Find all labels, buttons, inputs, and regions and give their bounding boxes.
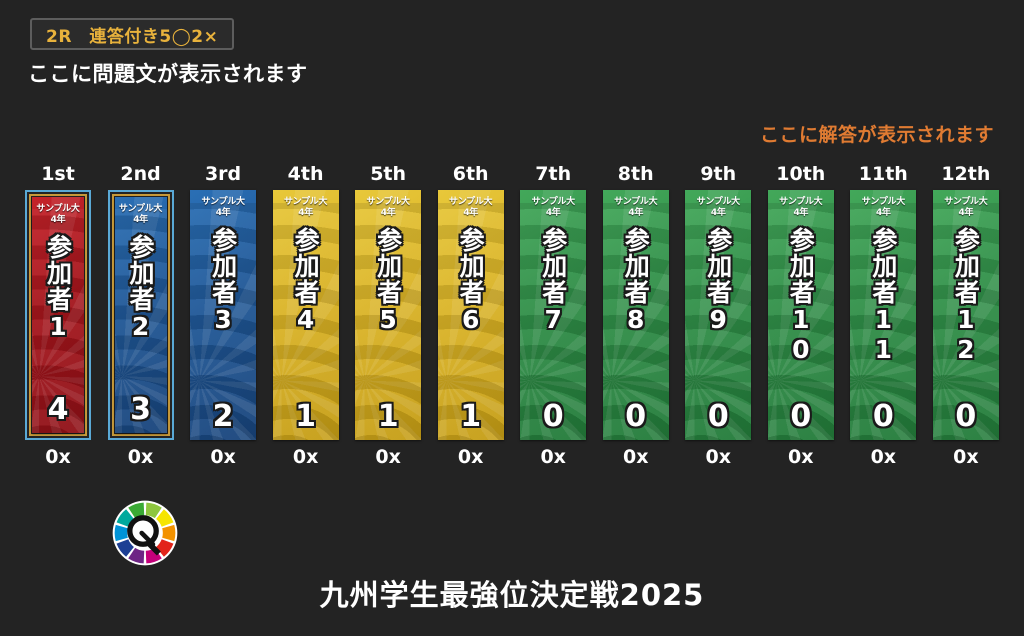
player-card[interactable]: 9thサンプル大 4年参加者900x: [685, 163, 751, 473]
player-miss-count: 0x: [128, 447, 153, 468]
player-rank-label: 3rd: [205, 163, 241, 187]
player-card-holder: サンプル大 4年参加者80: [603, 190, 669, 440]
player-card-highlight-frame: サンプル大 4年参加者14: [25, 190, 91, 440]
player-card-frame: サンプル大 4年参加者70: [520, 190, 586, 440]
player-name: 参加者1: [45, 234, 72, 342]
player-affiliation: サンプル大 4年: [862, 197, 905, 219]
player-card-body[interactable]: サンプル大 4年参加者100: [768, 190, 834, 440]
round-badge: 2R 連答付き5◯2×: [30, 18, 234, 50]
player-card[interactable]: 7thサンプル大 4年参加者700x: [520, 163, 586, 473]
player-card-holder: サンプル大 4年参加者41: [273, 190, 339, 440]
player-score: 1: [295, 401, 316, 433]
player-rank-label: 8th: [618, 163, 654, 187]
player-card-body[interactable]: サンプル大 4年参加者61: [438, 190, 504, 440]
player-card-body[interactable]: サンプル大 4年参加者23: [115, 197, 167, 433]
player-card-body[interactable]: サンプル大 4年参加者32: [190, 190, 256, 440]
player-card-holder: サンプル大 4年参加者110: [850, 190, 916, 440]
player-rank-label: 10th: [776, 163, 825, 187]
player-name: 参加者8: [622, 227, 649, 335]
player-card-frame: サンプル大 4年参加者120: [933, 190, 999, 440]
player-affiliation: サンプル大 4年: [367, 197, 410, 219]
player-name: 参加者2: [127, 234, 154, 342]
player-name: 参加者12: [952, 227, 979, 365]
question-text: ここに問題文が表示されます: [28, 58, 308, 88]
player-rank-label: 12th: [941, 163, 990, 187]
player-affiliation: サンプル大 4年: [614, 197, 657, 219]
player-card[interactable]: 12thサンプル大 4年参加者1200x: [933, 163, 999, 473]
player-card-holder: サンプル大 4年参加者51: [355, 190, 421, 440]
player-card-body[interactable]: サンプル大 4年参加者14: [32, 197, 84, 433]
player-card-holder: サンプル大 4年参加者61: [438, 190, 504, 440]
answer-text: ここに解答が表示されます: [760, 120, 994, 147]
player-miss-count: 0x: [540, 447, 565, 468]
player-card-body[interactable]: サンプル大 4年参加者80: [603, 190, 669, 440]
player-card[interactable]: 4thサンプル大 4年参加者410x: [273, 163, 339, 473]
player-card-gold-border: サンプル大 4年参加者23: [112, 194, 170, 436]
player-rank-label: 5th: [370, 163, 406, 187]
player-miss-count: 0x: [45, 447, 70, 468]
player-card-holder: サンプル大 4年参加者120: [933, 190, 999, 440]
player-miss-count: 0x: [623, 447, 648, 468]
player-card[interactable]: 3rdサンプル大 4年参加者320x: [190, 163, 256, 473]
player-miss-count: 0x: [871, 447, 896, 468]
player-miss-count: 0x: [458, 447, 483, 468]
player-card-body[interactable]: サンプル大 4年参加者70: [520, 190, 586, 440]
player-rank-label: 2nd: [120, 163, 160, 187]
player-card[interactable]: 10thサンプル大 4年参加者1000x: [768, 163, 834, 473]
player-affiliation: サンプル大 4年: [119, 204, 162, 226]
player-card-body[interactable]: サンプル大 4年参加者110: [850, 190, 916, 440]
player-rank-label: 1st: [41, 163, 75, 187]
player-score: 2: [213, 401, 234, 433]
player-rank-label: 6th: [453, 163, 489, 187]
player-score: 0: [708, 401, 729, 433]
player-name: 参加者10: [787, 227, 814, 365]
player-card-frame: サンプル大 4年参加者61: [438, 190, 504, 440]
player-card-holder: サンプル大 4年参加者100: [768, 190, 834, 440]
player-rank-label: 7th: [535, 163, 571, 187]
player-list: 1stサンプル大 4年参加者140x2ndサンプル大 4年参加者230x3rdサ…: [25, 163, 999, 473]
player-rank-label: 9th: [700, 163, 736, 187]
player-card[interactable]: 1stサンプル大 4年参加者140x: [25, 163, 91, 473]
player-miss-count: 0x: [375, 447, 400, 468]
player-card-frame: サンプル大 4年参加者32: [190, 190, 256, 440]
player-name: 参加者5: [375, 227, 402, 335]
player-affiliation: サンプル大 4年: [532, 197, 575, 219]
player-card-body[interactable]: サンプル大 4年参加者90: [685, 190, 751, 440]
player-card-body[interactable]: サンプル大 4年参加者120: [933, 190, 999, 440]
player-score: 0: [625, 401, 646, 433]
player-card-holder: サンプル大 4年参加者32: [190, 190, 256, 440]
player-miss-count: 0x: [293, 447, 318, 468]
player-card-frame: サンプル大 4年参加者41: [273, 190, 339, 440]
player-card-body[interactable]: サンプル大 4年参加者51: [355, 190, 421, 440]
player-affiliation: サンプル大 4年: [284, 197, 327, 219]
player-card-gold-border: サンプル大 4年参加者14: [29, 194, 87, 436]
event-title: 九州学生最強位決定戦2025: [0, 572, 1024, 614]
player-affiliation: サンプル大 4年: [36, 204, 79, 226]
player-name: 参加者4: [292, 227, 319, 335]
player-rank-label: 11th: [859, 163, 908, 187]
player-card-frame: サンプル大 4年参加者80: [603, 190, 669, 440]
player-miss-count: 0x: [953, 447, 978, 468]
player-miss-count: 0x: [788, 447, 813, 468]
player-miss-count: 0x: [210, 447, 235, 468]
quiz-magnifier-logo-icon: [112, 500, 178, 566]
player-card-frame: サンプル大 4年参加者100: [768, 190, 834, 440]
player-card-holder: サンプル大 4年参加者70: [520, 190, 586, 440]
player-score: 0: [543, 401, 564, 433]
player-miss-count: 0x: [706, 447, 731, 468]
player-card-frame: サンプル大 4年参加者110: [850, 190, 916, 440]
player-score: 1: [378, 401, 399, 433]
player-affiliation: サンプル大 4年: [449, 197, 492, 219]
player-card[interactable]: 5thサンプル大 4年参加者510x: [355, 163, 421, 473]
player-score: 0: [955, 401, 976, 433]
player-affiliation: サンプル大 4年: [697, 197, 740, 219]
player-card-frame: サンプル大 4年参加者90: [685, 190, 751, 440]
player-score: 0: [790, 401, 811, 433]
player-card[interactable]: 6thサンプル大 4年参加者610x: [438, 163, 504, 473]
player-affiliation: サンプル大 4年: [779, 197, 822, 219]
player-name: 参加者6: [457, 227, 484, 335]
player-affiliation: サンプル大 4年: [201, 197, 244, 219]
player-card-body[interactable]: サンプル大 4年参加者41: [273, 190, 339, 440]
player-score: 4: [48, 394, 69, 426]
player-name: 参加者3: [210, 227, 237, 335]
player-card-frame: サンプル大 4年参加者51: [355, 190, 421, 440]
player-name: 参加者7: [540, 227, 567, 335]
player-card-holder: サンプル大 4年参加者90: [685, 190, 751, 440]
player-name: 参加者11: [870, 227, 897, 365]
player-name: 参加者9: [705, 227, 732, 335]
player-card-highlight-frame: サンプル大 4年参加者23: [108, 190, 174, 440]
player-score: 0: [873, 401, 894, 433]
player-rank-label: 4th: [288, 163, 324, 187]
player-card[interactable]: 8thサンプル大 4年参加者800x: [603, 163, 669, 473]
player-card[interactable]: 2ndサンプル大 4年参加者230x: [108, 163, 174, 473]
player-score: 1: [460, 401, 481, 433]
player-card[interactable]: 11thサンプル大 4年参加者1100x: [850, 163, 916, 473]
player-affiliation: サンプル大 4年: [944, 197, 987, 219]
player-score: 3: [130, 394, 151, 426]
